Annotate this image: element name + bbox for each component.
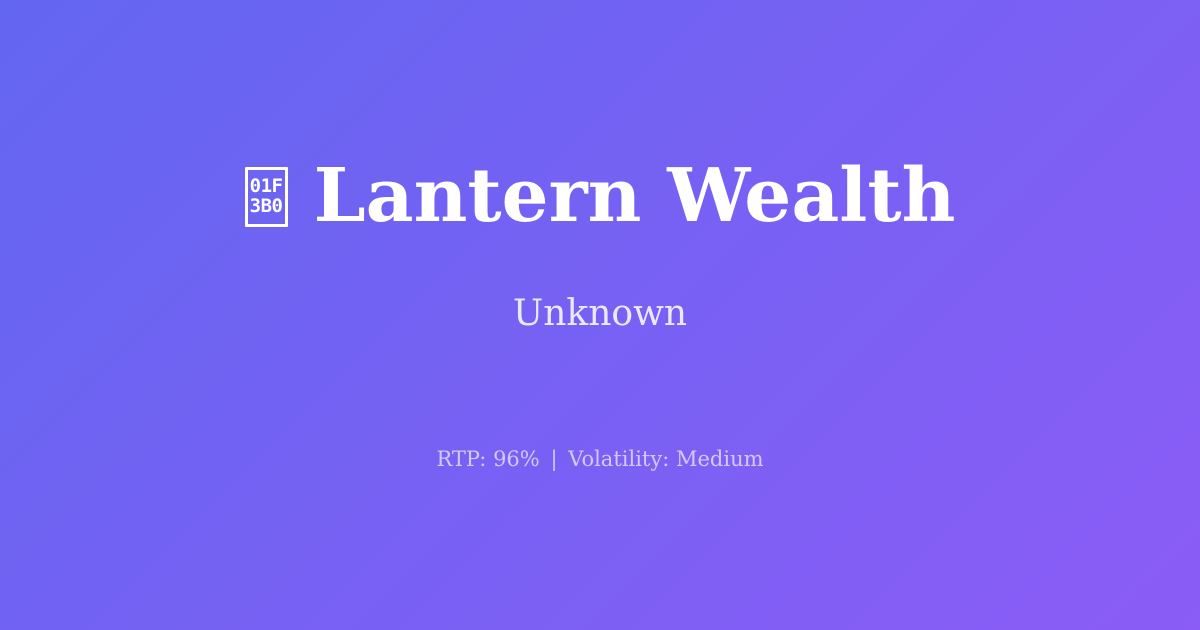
title-row: 01F 3B0 Lantern Wealth	[0, 158, 1200, 236]
og-share-card: 01F 3B0 Lantern Wealth Unknown RTP: 96% …	[0, 0, 1200, 630]
rtp-value: 96%	[493, 447, 540, 471]
page-title: Lantern Wealth	[314, 158, 956, 236]
card-subtitle: Unknown	[513, 292, 687, 335]
tofu-codepoint-lower: 3B0	[250, 197, 283, 217]
rtp-label: RTP:	[436, 447, 486, 471]
slot-machine-icon: 01F 3B0	[245, 167, 288, 227]
tofu-codepoint-upper: 01F	[250, 177, 283, 197]
volatility-value: Medium	[676, 447, 764, 471]
meta-separator: |	[546, 447, 561, 471]
card-meta: RTP: 96% | Volatility: Medium	[436, 447, 763, 472]
volatility-label: Volatility:	[568, 447, 669, 471]
